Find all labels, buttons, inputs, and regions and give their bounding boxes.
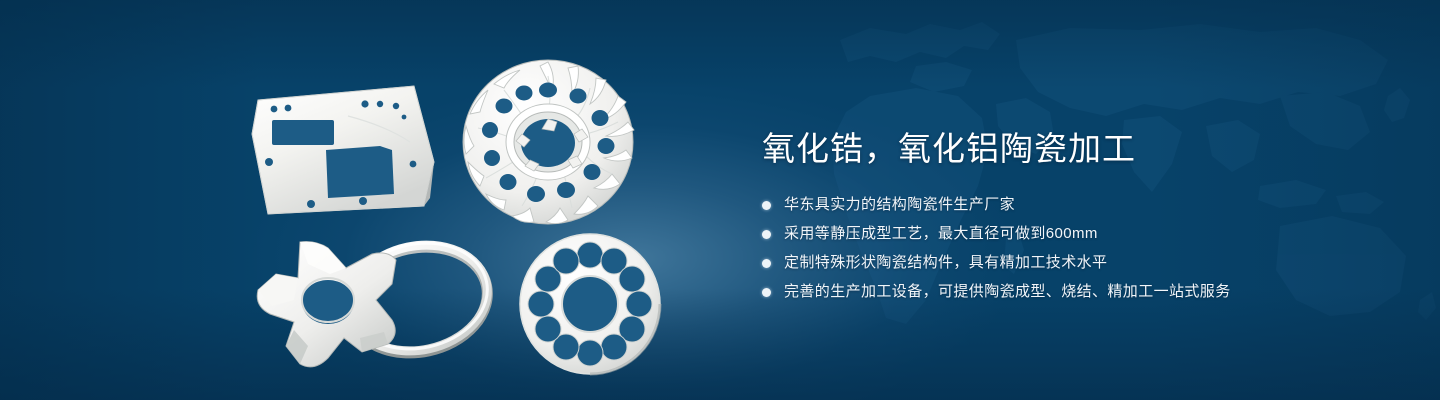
feature-list: 华东具实力的结构陶瓷件生产厂家 采用等静压成型工艺，最大直径可做到600mm 定… <box>762 195 1382 302</box>
feature-text: 定制特殊形状陶瓷结构件，具有精加工技术水平 <box>784 253 1107 273</box>
product-photo-group <box>228 38 698 378</box>
bullet-circle-icon <box>762 201 771 210</box>
feature-text: 采用等静压成型工艺，最大直径可做到600mm <box>784 224 1098 244</box>
page-title: 氧化锆，氧化铝陶瓷加工 <box>762 129 1382 169</box>
list-item: 定制特殊形状陶瓷结构件，具有精加工技术水平 <box>762 253 1382 273</box>
banner-text-block: 氧化锆，氧化铝陶瓷加工 华东具实力的结构陶瓷件生产厂家 采用等静压成型工艺，最大… <box>762 107 1382 311</box>
ceramic-perforated-disc <box>520 234 660 374</box>
ceramic-plate <box>252 86 434 214</box>
feature-text: 华东具实力的结构陶瓷件生产厂家 <box>784 195 1015 215</box>
list-item: 华东具实力的结构陶瓷件生产厂家 <box>762 195 1382 215</box>
list-item: 采用等静压成型工艺，最大直径可做到600mm <box>762 224 1382 244</box>
promo-banner: 氧化锆，氧化铝陶瓷加工 华东具实力的结构陶瓷件生产厂家 采用等静压成型工艺，最大… <box>0 0 1440 400</box>
ceramic-impeller <box>463 60 634 224</box>
bullet-circle-icon <box>762 230 771 239</box>
list-item: 完善的生产加工设备，可提供陶瓷成型、烧结、精加工一站式服务 <box>762 282 1382 302</box>
feature-text: 完善的生产加工设备，可提供陶瓷成型、烧结、精加工一站式服务 <box>784 282 1231 302</box>
bullet-circle-icon <box>762 288 771 297</box>
bullet-circle-icon <box>762 259 771 268</box>
ceramic-cross-part <box>257 242 396 367</box>
